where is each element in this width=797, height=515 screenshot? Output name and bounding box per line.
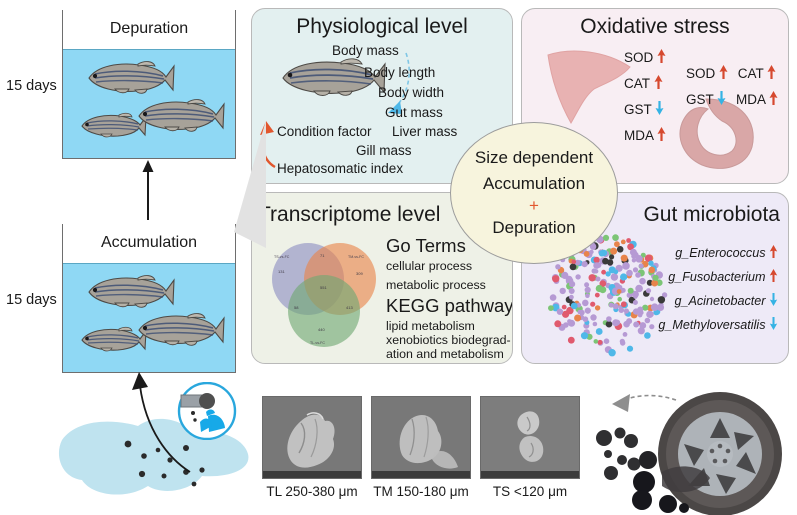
venn-set-label-tl: TL-vs-FC	[310, 341, 325, 345]
key-message-line1: Size dependent	[475, 145, 593, 171]
arrow-up-icon	[769, 269, 778, 282]
sem-caption-tm: TM 150-180 μm	[361, 484, 481, 499]
depuration-water	[63, 49, 235, 158]
genus-fusobacterium-label: g_Fusobacterium	[668, 270, 765, 284]
genus-fusobacterium: g_Fusobacterium	[668, 269, 778, 284]
genus-acinetobacter-label: g_Acinetobacter	[674, 294, 765, 308]
venn-count-ts-only: 131	[278, 269, 285, 274]
gut-marker-sod: SOD CAT	[686, 65, 776, 81]
venn-count-ts-tm: 71	[320, 253, 324, 258]
arrow-up-icon	[769, 91, 778, 105]
sem-image-tm	[371, 396, 471, 479]
fish-medium	[133, 98, 225, 132]
measure-hepatosomatic-index: Hepatosomatic index	[277, 161, 403, 176]
outfall-icon	[176, 382, 238, 440]
fish-medium	[133, 312, 225, 346]
physiological-title: Physiological level	[252, 15, 512, 39]
key-message-plus: +	[529, 197, 539, 216]
fish-large	[83, 60, 175, 94]
genus-methyloversatilis: g_Methyloversatilis	[658, 317, 778, 332]
arrow-up-icon	[657, 49, 666, 63]
accumulation-title: Accumulation	[63, 234, 235, 252]
measure-body-width: Body width	[378, 85, 444, 100]
go-term-cellular-process: cellular process	[386, 259, 472, 273]
depuration-tank: Depuration	[62, 10, 236, 159]
liver-marker-cat-label: CAT	[624, 76, 650, 91]
kegg-xenobiotics-line1: xenobiotics biodegrad-	[386, 333, 511, 347]
arrow-up-icon	[654, 75, 663, 89]
transcriptome-title: Transcriptome level	[258, 203, 440, 227]
liver-marker-mda-label: MDA	[624, 128, 653, 143]
measure-body-length: Body length	[364, 65, 435, 80]
experiment-column: Depuration	[0, 0, 246, 372]
kegg-xenobiotics-line2: ation and metabolism	[386, 347, 504, 361]
microbiota-title: Gut microbiota	[643, 203, 780, 227]
arrow-up-icon	[657, 127, 666, 141]
key-message-circle: Size dependent Accumulation + Depuration	[450, 122, 618, 264]
venn-count-tl-only: 440	[318, 327, 325, 332]
venn-set-label-ts: TS-vs-FC	[274, 255, 289, 259]
gut-marker-sod-label: SOD	[686, 66, 715, 81]
measure-body-mass: Body mass	[332, 43, 399, 58]
go-terms-heading: Go Terms	[386, 235, 466, 257]
liver-marker-gst: GST	[624, 101, 664, 117]
venn-count-tm-only: 309	[356, 271, 363, 276]
accumulation-water	[63, 263, 235, 372]
go-term-metabolic-process: metabolic process	[386, 278, 486, 292]
liver-icon	[544, 45, 636, 127]
arrow-up-icon	[767, 65, 776, 79]
genus-enterococcus: g_Enterococcus	[675, 245, 778, 260]
connector-wedge	[228, 120, 268, 250]
measure-liver-mass: Liver mass	[392, 124, 457, 139]
tire-illustration	[584, 378, 797, 515]
venn-set-label-tm: TM-vs-FC	[348, 255, 364, 259]
venn-count-all-three: 551	[320, 285, 327, 290]
arrow-down-icon	[717, 91, 726, 105]
kegg-lipid-metabolism: lipid metabolism	[386, 319, 475, 333]
liver-marker-sod: SOD	[624, 49, 666, 65]
gut-marker-gst-label: GST	[686, 92, 714, 107]
arrow-down-icon	[655, 101, 664, 115]
arrow-up-icon	[719, 65, 728, 79]
arrow-down-icon	[769, 293, 778, 306]
liver-marker-mda: MDA	[624, 127, 666, 143]
liver-marker-sod-label: SOD	[624, 50, 653, 65]
venn-count-tm-tl: 413	[346, 305, 353, 310]
arrow-up-icon	[769, 245, 778, 258]
measure-condition-factor: Condition factor	[277, 124, 372, 139]
genus-acinetobacter: g_Acinetobacter	[674, 293, 778, 308]
accumulation-to-depuration-arrow	[136, 158, 160, 222]
gut-marker-gst: GST MDA	[686, 91, 778, 107]
sem-caption-tl: TL 250-380 μm	[252, 484, 372, 499]
depuration-title: Depuration	[63, 20, 235, 38]
accumulation-tank: Accumulation	[62, 224, 236, 373]
measure-gill-mass: Gill mass	[356, 143, 412, 158]
measure-gut-mass: Gut mass	[385, 105, 443, 120]
genus-methyloversatilis-label: g_Methyloversatilis	[658, 318, 765, 332]
liver-marker-cat: CAT	[624, 75, 663, 91]
fish-large	[83, 274, 175, 308]
sem-image-ts	[480, 396, 580, 479]
depuration-duration-label: 15 days	[6, 78, 57, 94]
gut-marker-mda-label: MDA	[736, 92, 765, 107]
sem-image-tl	[262, 396, 362, 479]
liver-marker-gst-label: GST	[624, 102, 652, 117]
sem-caption-ts: TS <120 μm	[470, 484, 590, 499]
oxidative-title: Oxidative stress	[522, 15, 788, 39]
kegg-pathways-heading: KEGG pathways	[386, 295, 513, 317]
key-message-line2: Accumulation	[483, 171, 585, 197]
gut-marker-cat-label: CAT	[738, 66, 764, 81]
key-message-line3: Depuration	[492, 215, 575, 241]
genus-enterococcus-label: g_Enterococcus	[675, 246, 765, 260]
arrow-down-icon	[769, 317, 778, 330]
accumulation-duration-label: 15 days	[6, 292, 57, 308]
venn-count-ts-tl: 58	[294, 305, 298, 310]
